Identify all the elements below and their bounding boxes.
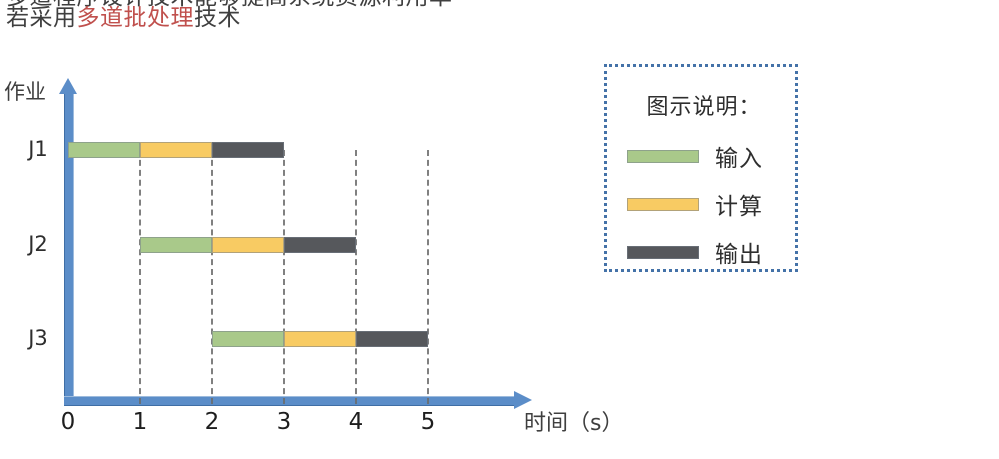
legend-swatch-输出 <box>627 246 699 259</box>
y-axis-title: 作业 <box>4 76 46 106</box>
legend-swatch-计算 <box>627 198 699 211</box>
legend-label-输出: 输出 <box>715 235 763 269</box>
bar-segment-j1-输出[interactable] <box>212 142 284 158</box>
gridline-t2 <box>211 150 213 404</box>
bar-segment-j1-计算[interactable] <box>140 142 212 158</box>
gantt-chart: 作业 时间（s） J1J2J3 012345 <box>0 0 999 459</box>
bar-segment-j2-输出[interactable] <box>284 237 356 253</box>
x-tick-label-2: 2 <box>198 409 226 435</box>
legend-box: 图示说明： 输入计算输出 <box>604 64 798 272</box>
legend-label-计算: 计算 <box>715 187 763 221</box>
x-tick-label-0: 0 <box>54 409 82 435</box>
x-tick-label-1: 1 <box>126 409 154 435</box>
legend-title: 图示说明： <box>607 89 801 121</box>
bar-segment-j3-计算[interactable] <box>284 331 356 347</box>
y-tick-label-j3: J3 <box>18 326 58 350</box>
x-tick-label-3: 3 <box>270 409 298 435</box>
bar-segment-j3-输出[interactable] <box>356 331 428 347</box>
gridline-t5 <box>427 150 429 404</box>
y-tick-label-j1: J1 <box>18 137 58 161</box>
x-axis-line <box>64 396 516 406</box>
y-tick-label-j2: J2 <box>18 232 58 256</box>
legend-swatch-输入 <box>627 150 699 163</box>
gridline-t4 <box>355 150 357 404</box>
x-axis-title: 时间（s） <box>524 405 623 437</box>
legend-label-输入: 输入 <box>715 139 763 173</box>
legend-item-计算[interactable]: 计算 <box>607 187 801 221</box>
x-tick-label-5: 5 <box>414 409 442 435</box>
bar-segment-j3-输入[interactable] <box>212 331 284 347</box>
y-axis-line <box>64 92 74 404</box>
gridline-t3 <box>283 150 285 404</box>
bar-segment-j1-输入[interactable] <box>68 142 140 158</box>
y-axis-arrowhead <box>59 78 77 94</box>
legend-item-输出[interactable]: 输出 <box>607 235 801 269</box>
x-tick-label-4: 4 <box>342 409 370 435</box>
bar-segment-j2-输入[interactable] <box>140 237 212 253</box>
gridline-t1 <box>139 150 141 404</box>
legend-item-输入[interactable]: 输入 <box>607 139 801 173</box>
bar-segment-j2-计算[interactable] <box>212 237 284 253</box>
